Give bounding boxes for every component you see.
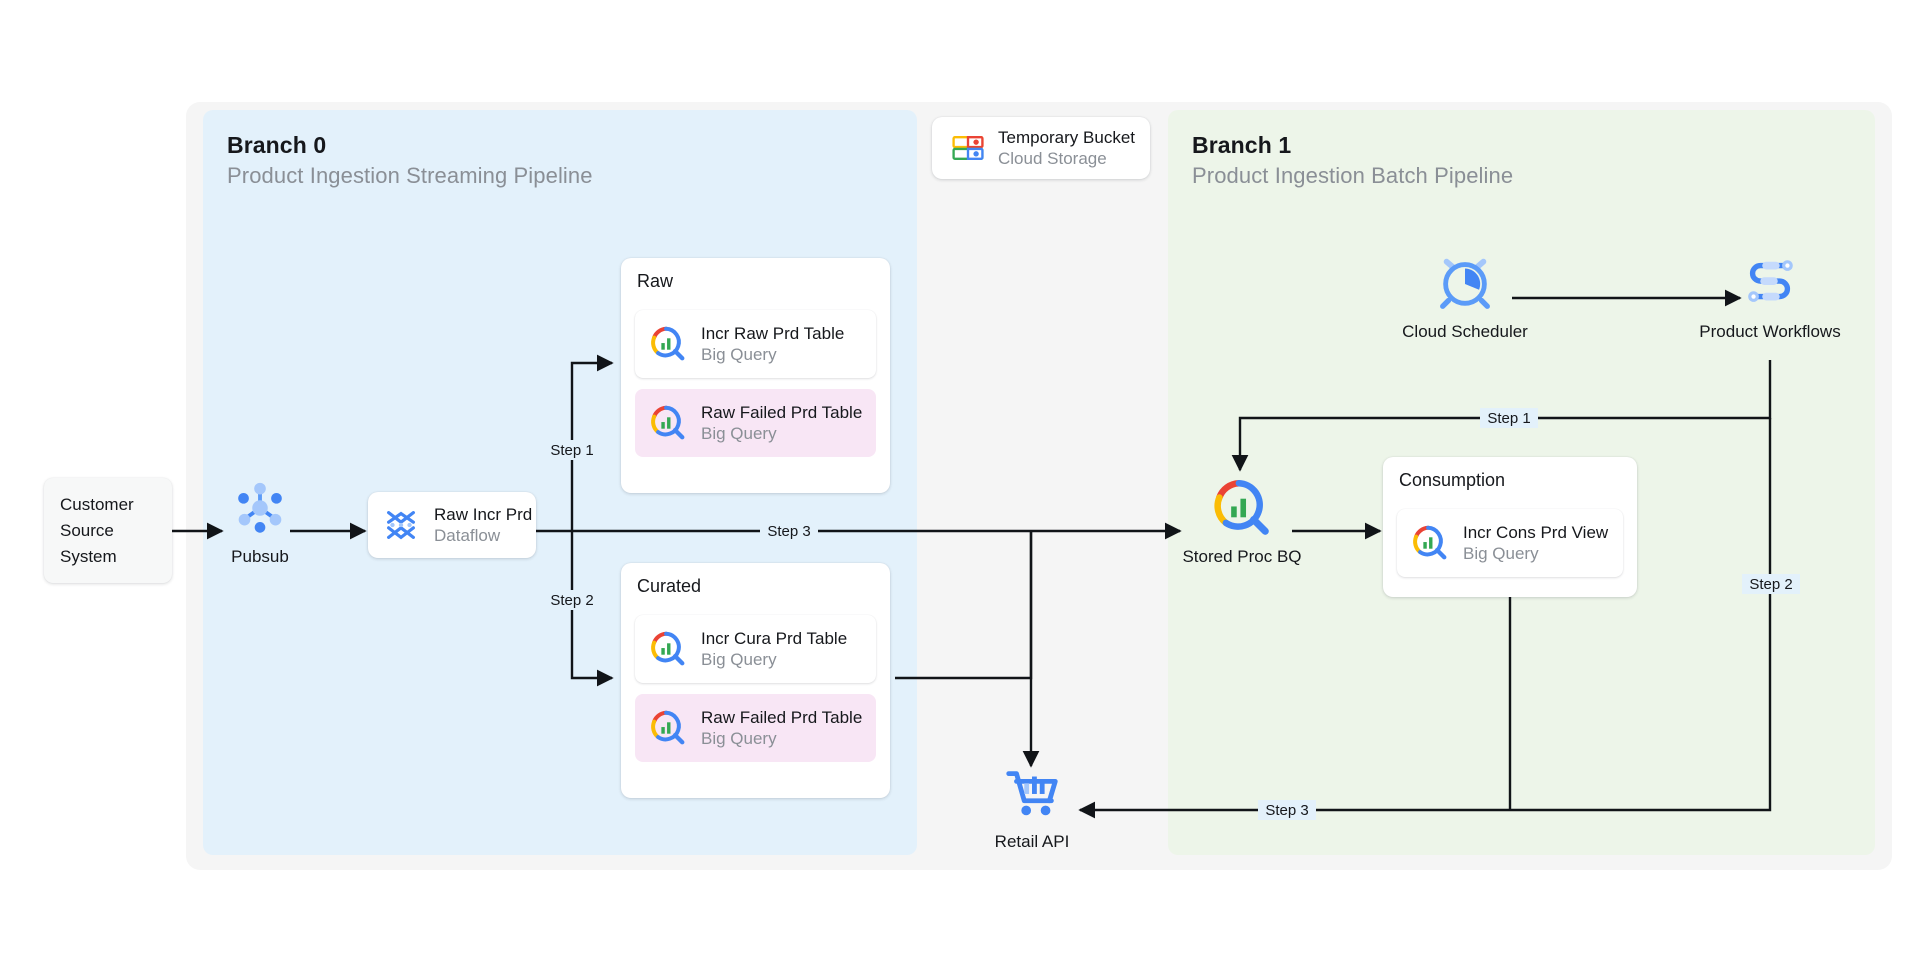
row-title: Incr Cura Prd Table [701,628,847,649]
source-line-2: Source [60,518,156,544]
branch-0-subtitle: Product Ingestion Streaming Pipeline [227,163,593,189]
source-line-3: System [60,544,156,570]
branch-1-title: Branch 1 [1192,132,1291,159]
bigquery-icon [649,404,687,442]
group-raw-title: Raw [637,271,673,292]
dataflow-title: Raw Incr Prd [434,504,532,525]
node-pubsub[interactable]: Pubsub [225,477,295,567]
node-stored-proc-bq[interactable]: Stored Proc BQ [1194,477,1290,567]
node-cloud-scheduler[interactable]: Cloud Scheduler [1419,252,1511,342]
row-subtitle: Big Query [701,423,862,444]
source-line-1: Customer [60,492,156,518]
bigquery-icon [649,709,687,747]
branch-0-title: Branch 0 [227,132,326,159]
row-title: Raw Failed Prd Table [701,402,862,423]
row-title: Raw Failed Prd Table [701,707,862,728]
alarm-clock-icon [1434,252,1496,314]
customer-source-system-box: Customer Source System [44,478,172,583]
node-product-workflows[interactable]: Product Workflows [1724,252,1816,342]
group-curated: Curated Incr Cura Prd Table Big Query [621,563,890,798]
dataflow-row: Raw Incr Prd Dataflow [368,492,536,558]
card-raw-incr-prd-dataflow[interactable]: Raw Incr Prd Dataflow [368,492,536,558]
row-incr-cons-prd-view[interactable]: Incr Cons Prd View Big Query [1397,509,1623,577]
workflows-icon [1739,252,1801,314]
bigquery-icon [1411,524,1449,562]
node-pubsub-label: Pubsub [231,547,289,567]
row-subtitle: Big Query [701,728,862,749]
row-subtitle: Big Query [1463,543,1608,564]
node-cloud-scheduler-label: Cloud Scheduler [1402,322,1528,342]
diagram-canvas: Branch 0 Product Ingestion Streaming Pip… [0,0,1920,962]
row-subtitle: Big Query [701,649,847,670]
bigquery-icon [649,630,687,668]
group-raw: Raw Incr Raw Prd Table Big Query [621,258,890,493]
pubsub-icon [229,477,291,539]
group-consumption-title: Consumption [1399,470,1505,491]
group-consumption: Consumption Incr Cons Prd View Big Query [1383,457,1637,597]
node-stored-proc-bq-label: Stored Proc BQ [1182,547,1301,567]
shopping-cart-icon [1001,762,1063,824]
bigquery-icon [1211,477,1273,539]
row-incr-cura-prd-table[interactable]: Incr Cura Prd Table Big Query [635,615,876,683]
bigquery-icon [649,325,687,363]
group-curated-title: Curated [637,576,701,597]
row-raw-failed-prd-table-curated[interactable]: Raw Failed Prd Table Big Query [635,694,876,762]
row-title: Incr Cons Prd View [1463,522,1608,543]
node-product-workflows-label: Product Workflows [1699,322,1840,342]
dataflow-icon [382,506,420,544]
branch-1-subtitle: Product Ingestion Batch Pipeline [1192,163,1513,189]
cloud-storage-icon [950,130,986,166]
temp-bucket-subtitle: Cloud Storage [998,148,1135,169]
row-raw-failed-prd-table[interactable]: Raw Failed Prd Table Big Query [635,389,876,457]
card-temporary-bucket[interactable]: Temporary Bucket Cloud Storage [932,117,1150,179]
temp-bucket-title: Temporary Bucket [998,127,1135,148]
node-retail-api[interactable]: Retail API [998,762,1066,852]
node-retail-api-label: Retail API [995,832,1070,852]
row-title: Incr Raw Prd Table [701,323,844,344]
row-subtitle: Big Query [701,344,844,365]
row-incr-raw-prd-table[interactable]: Incr Raw Prd Table Big Query [635,310,876,378]
dataflow-subtitle: Dataflow [434,525,532,546]
